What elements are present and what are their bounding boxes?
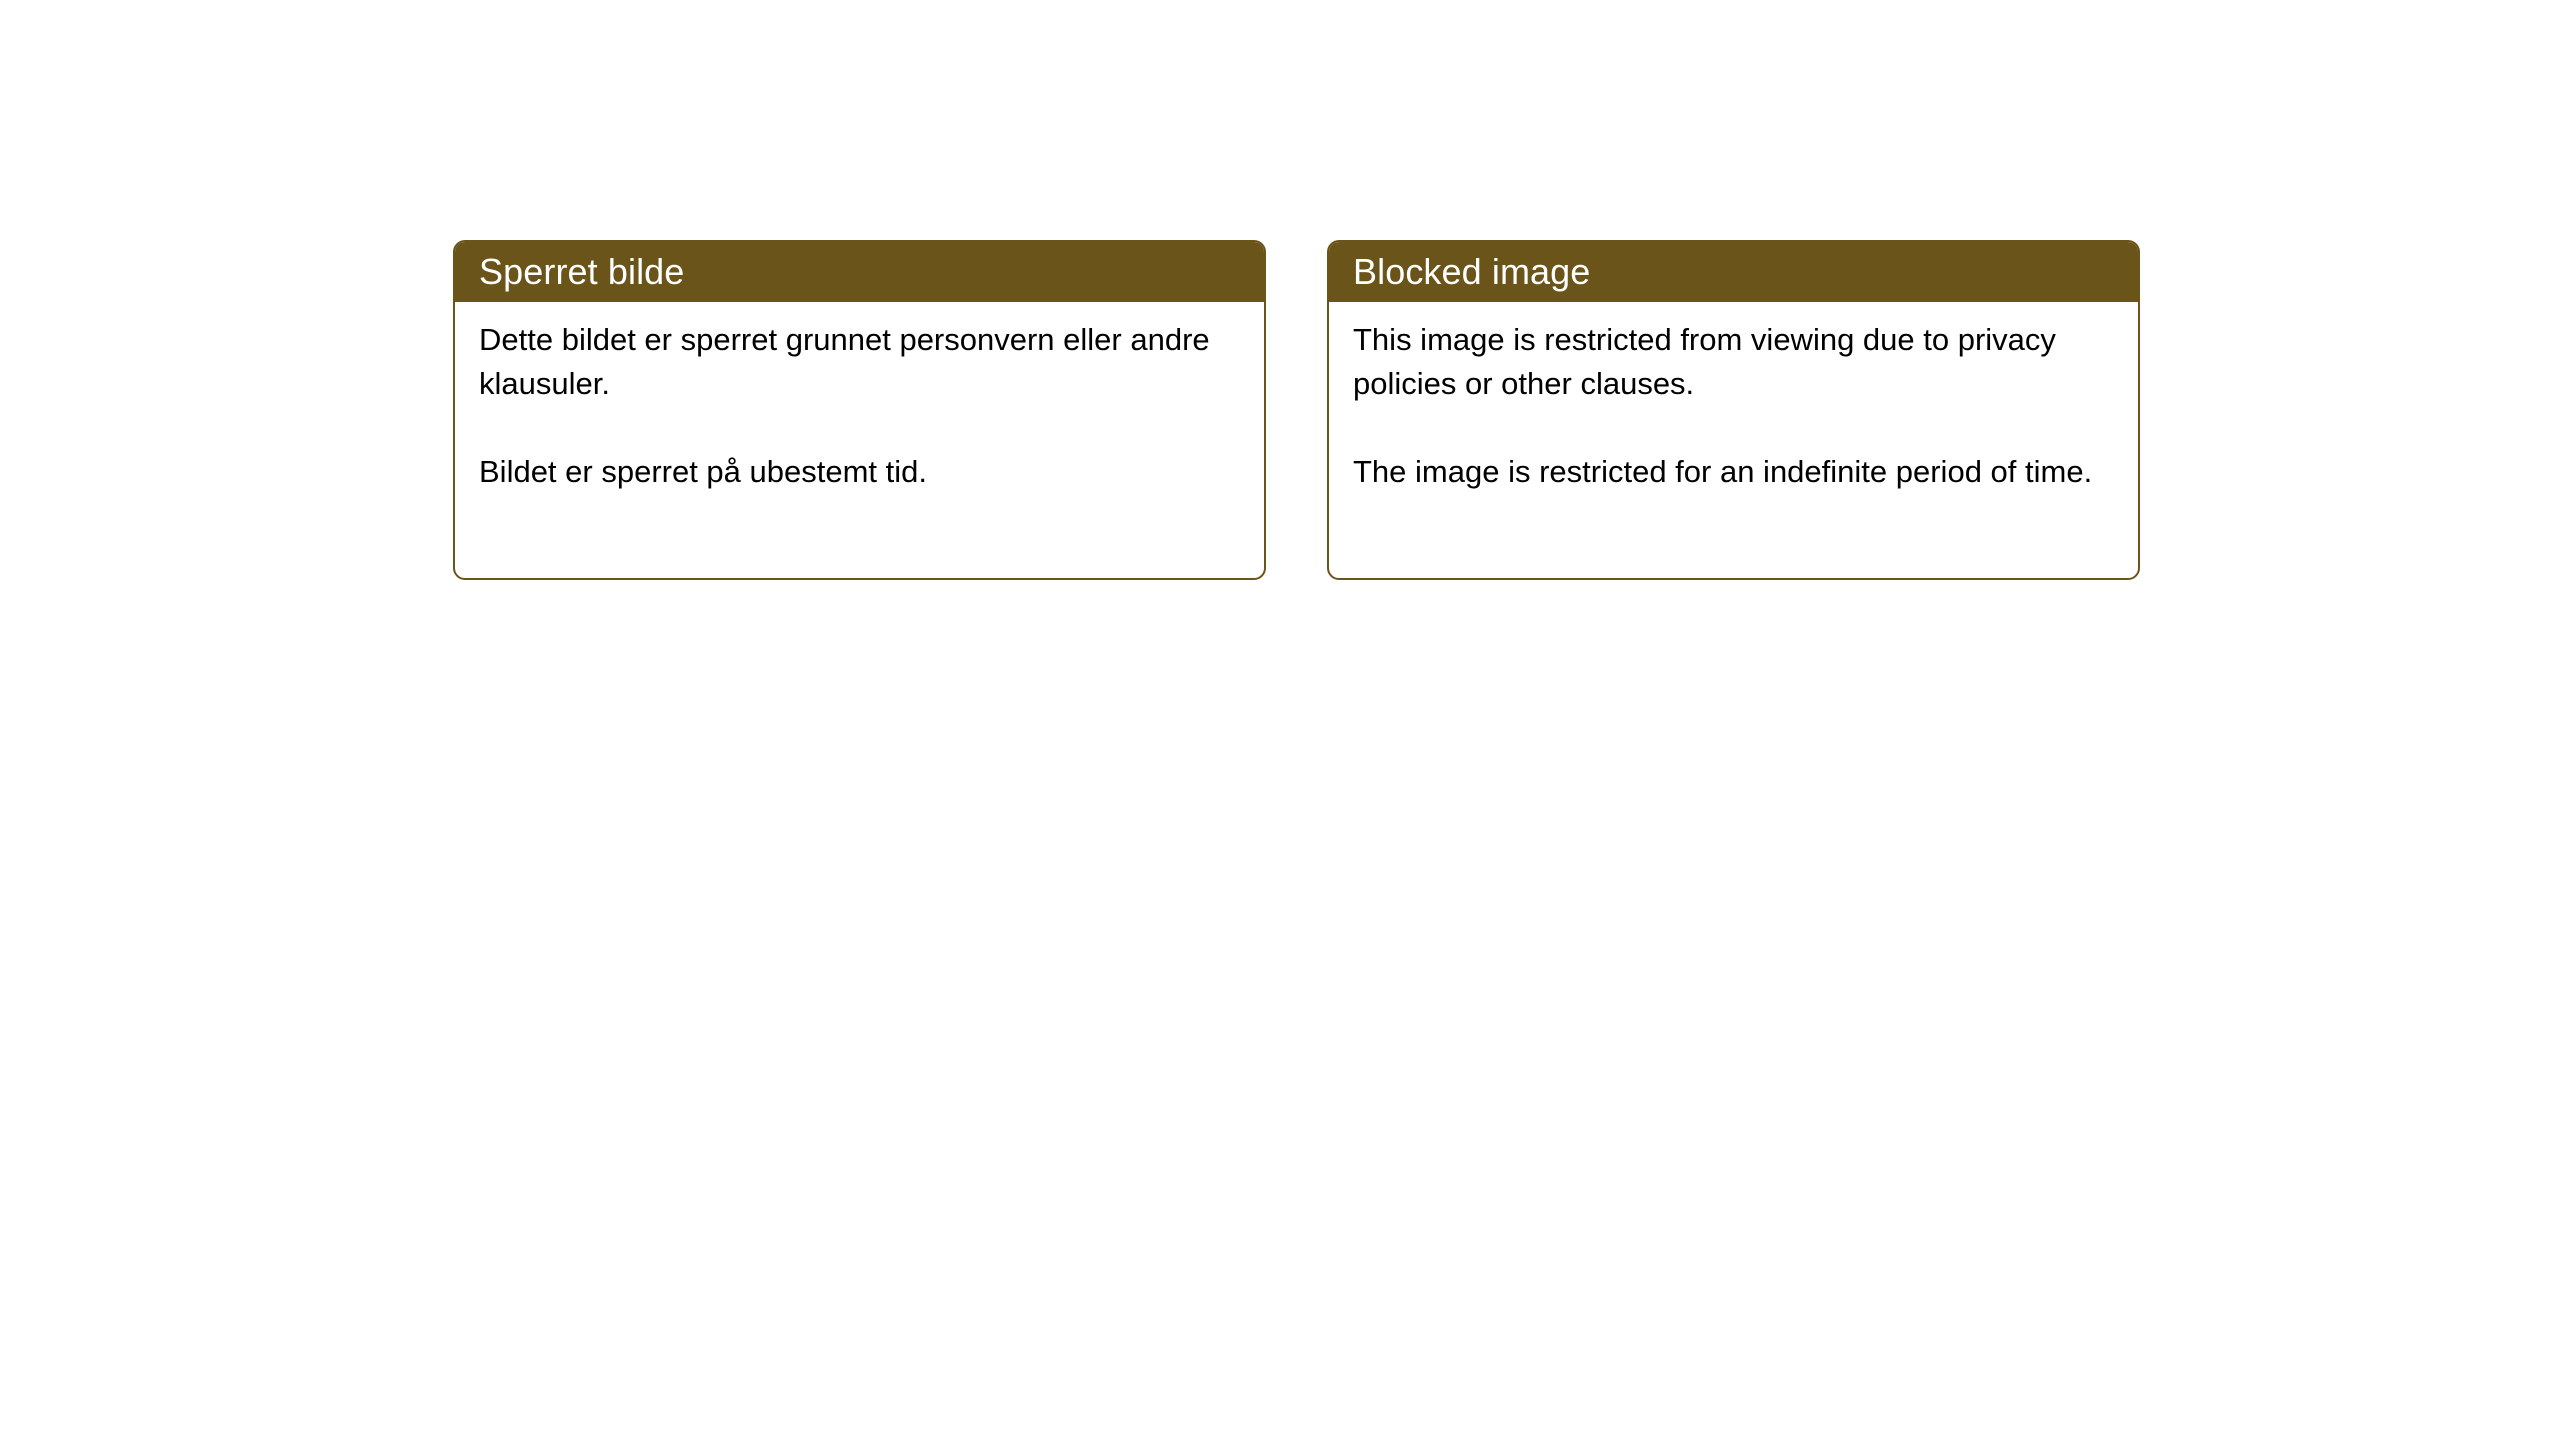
card-title-norwegian: Sperret bilde [479, 254, 684, 290]
card-paragraph-secondary-english: The image is restricted for an indefinit… [1353, 450, 2113, 494]
blocked-image-card-english: Blocked image This image is restricted f… [1327, 240, 2140, 580]
page-canvas: Sperret bilde Dette bildet er sperret gr… [0, 0, 2560, 1440]
card-paragraph-primary-norwegian: Dette bildet er sperret grunnet personve… [479, 318, 1239, 406]
card-paragraph-secondary-norwegian: Bildet er sperret på ubestemt tid. [479, 450, 1239, 494]
card-body-norwegian: Dette bildet er sperret grunnet personve… [455, 302, 1264, 494]
card-body-english: This image is restricted from viewing du… [1329, 302, 2138, 494]
card-header-norwegian: Sperret bilde [455, 242, 1264, 302]
card-paragraph-primary-english: This image is restricted from viewing du… [1353, 318, 2113, 406]
card-title-english: Blocked image [1353, 254, 1590, 290]
card-header-english: Blocked image [1329, 242, 2138, 302]
blocked-image-card-norwegian: Sperret bilde Dette bildet er sperret gr… [453, 240, 1266, 580]
